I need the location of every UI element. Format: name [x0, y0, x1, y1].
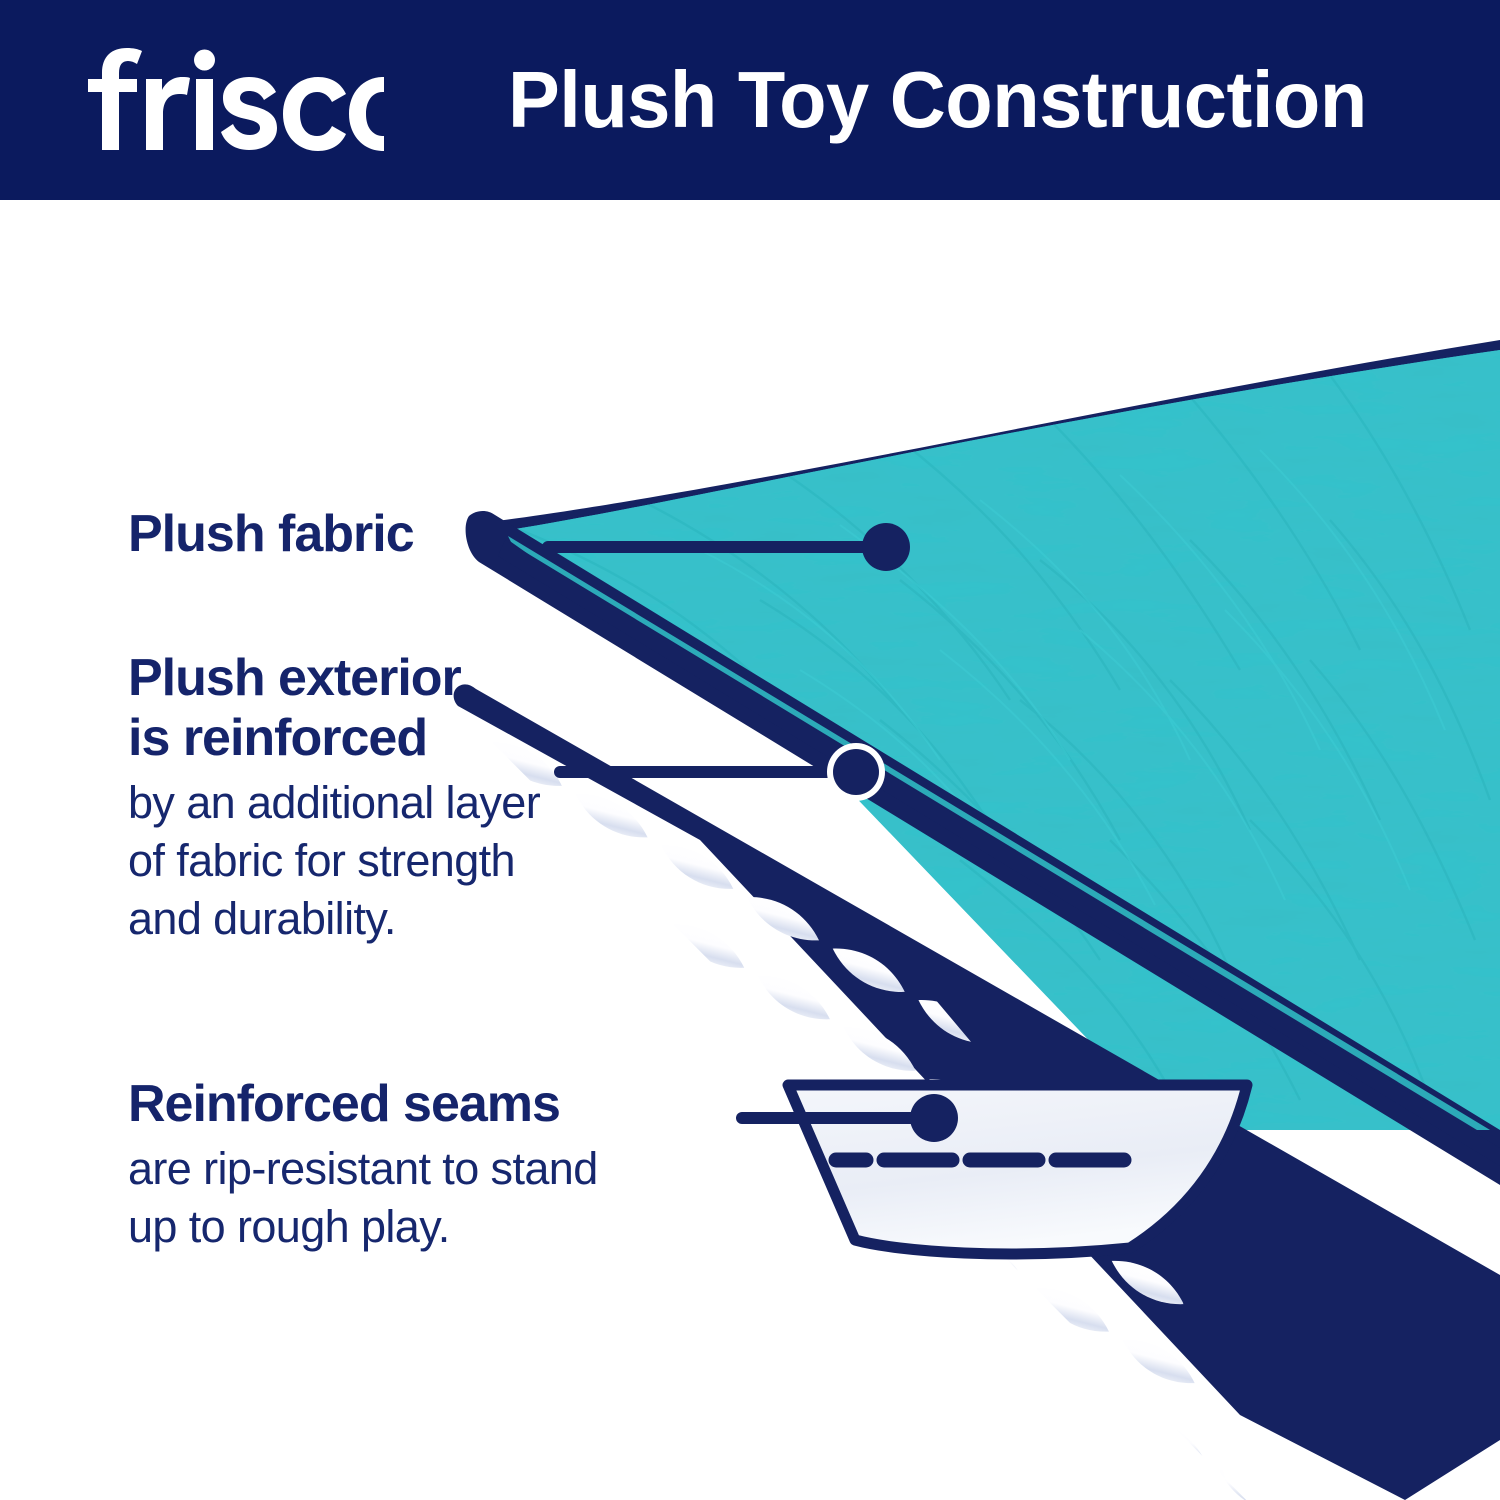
- plush-exterior-marker-dot: [833, 749, 879, 795]
- callout-plush-fabric-title: Plush fabric: [128, 504, 558, 564]
- callout-reinforced-seams-title: Reinforced seams: [128, 1074, 808, 1134]
- callout-reinforced-seams: Reinforced seams are rip-resistant to st…: [128, 1074, 808, 1256]
- callout-plush-exterior-body: by an additional layer of fabric for str…: [128, 768, 728, 948]
- callout-reinforced-seams-body: are rip-resistant to stand up to rough p…: [128, 1134, 808, 1256]
- plush-fabric-marker-dot: [862, 523, 910, 571]
- page-title: Plush Toy Construction: [508, 45, 1362, 155]
- frisco-logo-icon: R: [84, 46, 384, 154]
- callout-plush-fabric: Plush fabric: [128, 504, 558, 564]
- header-bar: R Plush Toy Construction: [0, 0, 1500, 200]
- reinforced-seams-marker-dot: [910, 1094, 958, 1142]
- callout-plush-exterior-title: Plush exterior is reinforced: [128, 648, 728, 768]
- callout-plush-exterior: Plush exterior is reinforced by an addit…: [128, 648, 728, 948]
- infographic-page: R Plush Toy Construction: [0, 0, 1500, 1500]
